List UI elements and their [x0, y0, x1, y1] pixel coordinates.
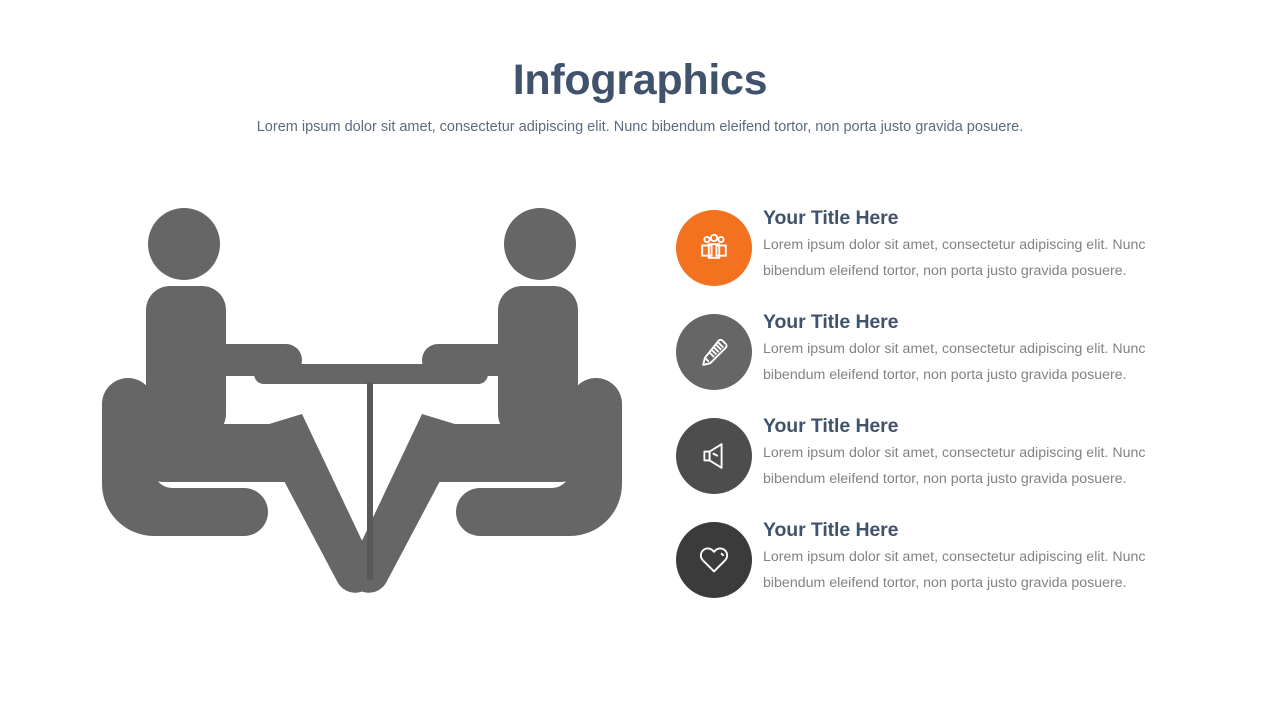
group-people-icon	[697, 231, 731, 265]
infographic-slide: Infographics Lorem ipsum dolor sit amet,…	[0, 0, 1280, 720]
slide-header: Infographics Lorem ipsum dolor sit amet,…	[0, 58, 1280, 137]
item-title: Your Title Here	[763, 205, 1175, 231]
list-item[interactable]: Your Title Here Lorem ipsum dolor sit am…	[676, 418, 1176, 522]
right-leg	[349, 414, 468, 593]
item-icon-badge[interactable]	[676, 418, 752, 494]
item-description: Lorem ipsum dolor sit amet, consectetur …	[763, 441, 1175, 492]
item-description: Lorem ipsum dolor sit amet, consectetur …	[763, 337, 1175, 388]
table-stem	[367, 382, 373, 580]
speaker-icon	[696, 438, 732, 474]
two-people-at-table-illustration	[88, 196, 636, 596]
item-title: Your Title Here	[763, 517, 1175, 543]
list-item[interactable]: Your Title Here Lorem ipsum dolor sit am…	[676, 522, 1176, 626]
item-text-block: Your Title Here Lorem ipsum dolor sit am…	[763, 517, 1175, 596]
right-head	[504, 208, 576, 280]
table-top	[254, 364, 488, 384]
page-subtitle: Lorem ipsum dolor sit amet, consectetur …	[0, 118, 1280, 137]
item-icon-badge[interactable]	[676, 210, 752, 286]
left-head	[148, 208, 220, 280]
page-title: Infographics	[0, 58, 1280, 103]
pencil-icon	[696, 334, 732, 370]
item-title: Your Title Here	[763, 413, 1175, 439]
item-description: Lorem ipsum dolor sit amet, consectetur …	[763, 545, 1175, 596]
list-item[interactable]: Your Title Here Lorem ipsum dolor sit am…	[676, 210, 1176, 314]
heart-icon	[696, 542, 732, 578]
list-item[interactable]: Your Title Here Lorem ipsum dolor sit am…	[676, 314, 1176, 418]
item-description: Lorem ipsum dolor sit amet, consectetur …	[763, 233, 1175, 284]
item-icon-badge[interactable]	[676, 522, 752, 598]
item-text-block: Your Title Here Lorem ipsum dolor sit am…	[763, 205, 1175, 284]
item-text-block: Your Title Here Lorem ipsum dolor sit am…	[763, 413, 1175, 492]
item-title: Your Title Here	[763, 309, 1175, 335]
item-icon-badge[interactable]	[676, 314, 752, 390]
feature-list: Your Title Here Lorem ipsum dolor sit am…	[676, 210, 1176, 626]
item-text-block: Your Title Here Lorem ipsum dolor sit am…	[763, 309, 1175, 388]
